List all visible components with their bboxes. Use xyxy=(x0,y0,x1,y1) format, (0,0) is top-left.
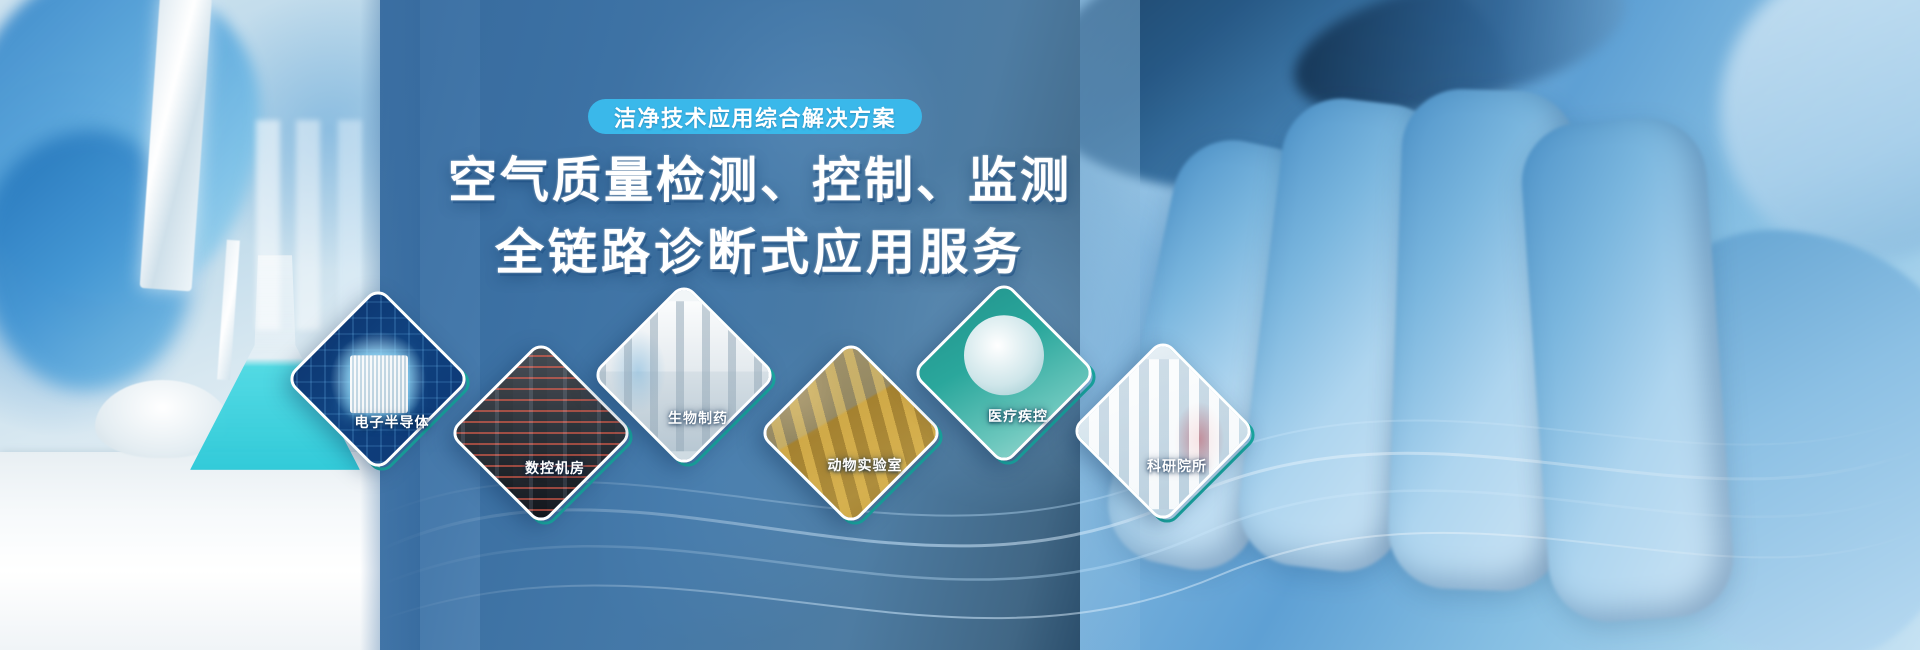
semiconductor-chip-icon xyxy=(285,287,472,472)
industry-card-electronics[interactable] xyxy=(285,286,472,473)
research-institute-icon xyxy=(1070,339,1257,524)
hero-banner: 洁净技术应用综合解决方案 空气质量检测、控制、监测 全链路诊断式应用服务 电子半… xyxy=(0,0,1920,650)
industry-card-label-3: 生物制药 xyxy=(668,408,728,428)
industry-card-label-5: 医疗疾控 xyxy=(988,406,1048,426)
industry-card-label-6: 科研院所 xyxy=(1147,456,1207,476)
industry-card-research[interactable] xyxy=(1070,338,1257,525)
industry-card-row: 电子半导体 数控机房 生物制药 动物实验室 医疗疾控 科研院所 xyxy=(0,0,1920,650)
industry-card-label-1: 电子半导体 xyxy=(355,412,430,432)
industry-card-label-2: 数控机房 xyxy=(525,458,585,478)
industry-card-label-4: 动物实验室 xyxy=(828,455,903,475)
